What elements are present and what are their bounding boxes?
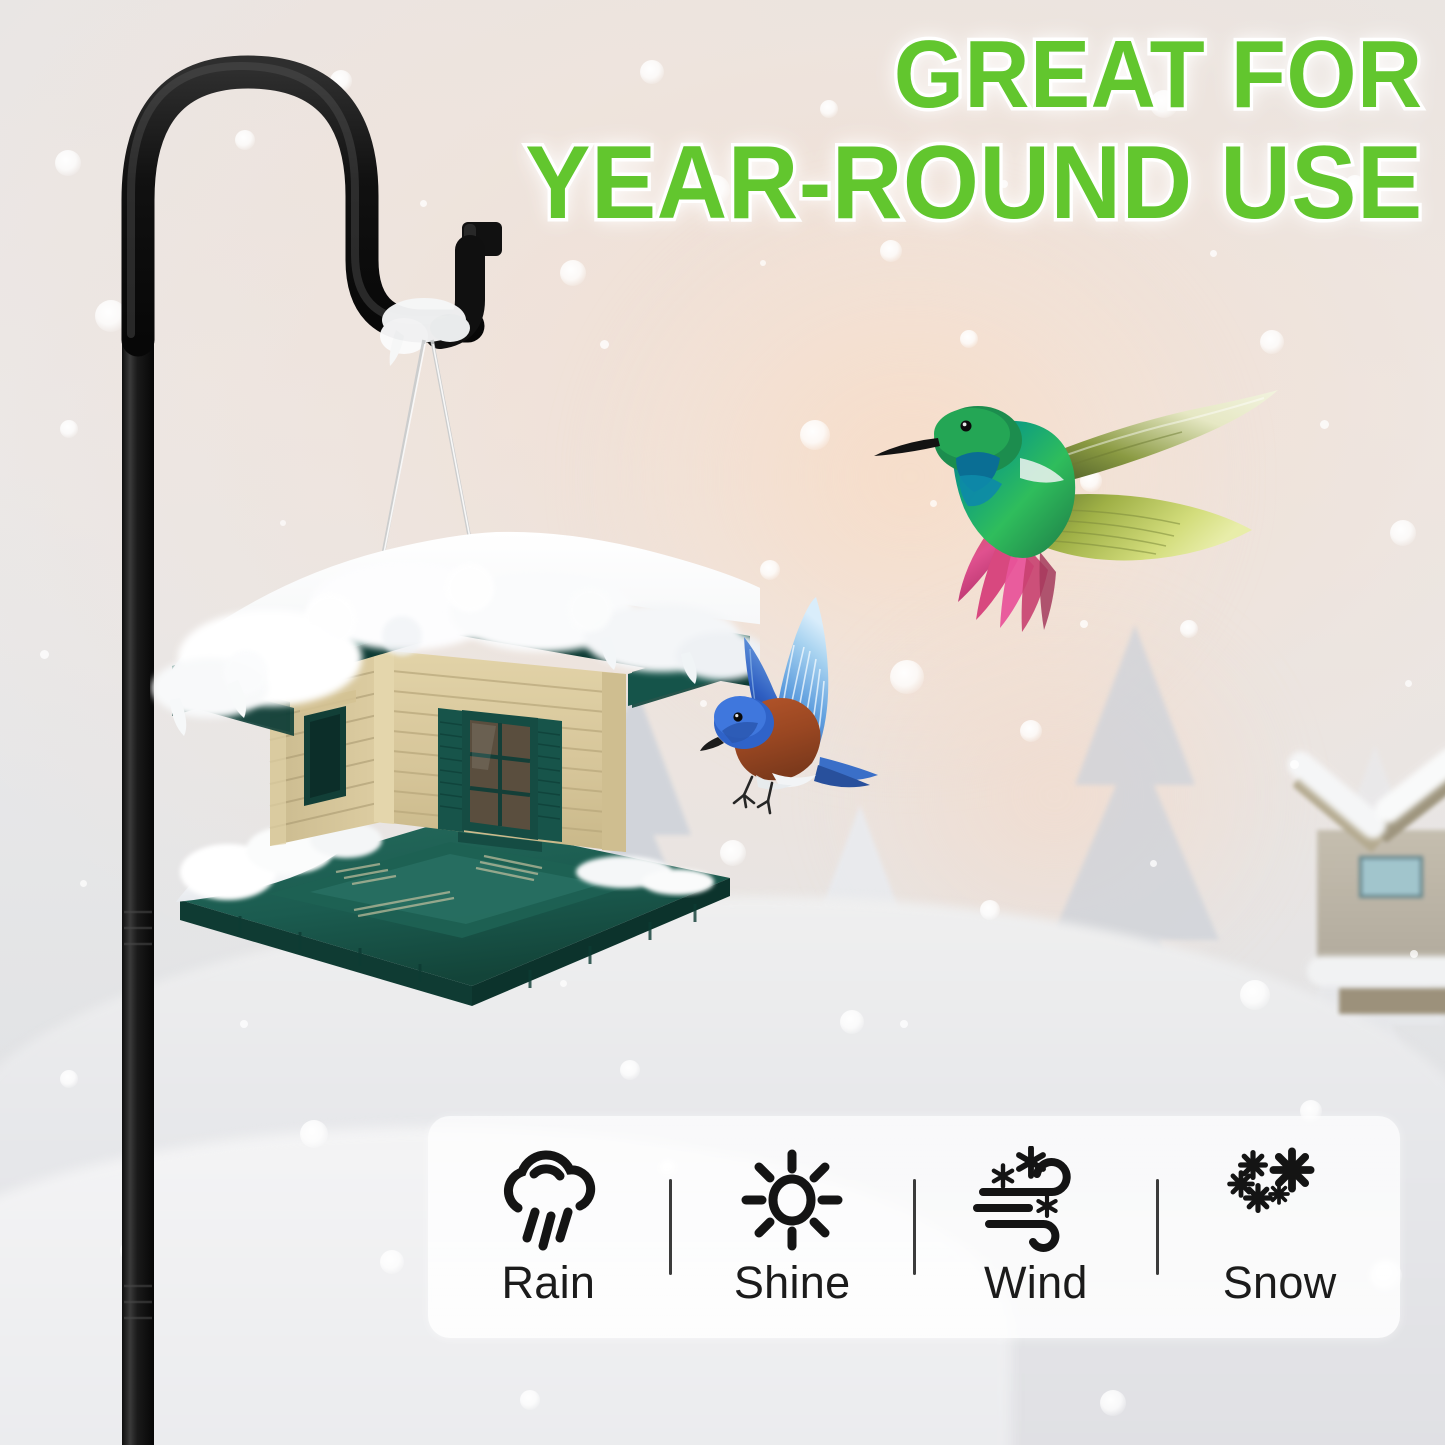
- weather-label-wind: Wind: [984, 1260, 1088, 1311]
- headline: GREAT FOR YEAR-ROUND USE: [526, 26, 1423, 236]
- weather-item-snow: Snow: [1159, 1116, 1400, 1338]
- house-bird-feeder: [150, 440, 760, 1020]
- headline-line-2: YEAR-ROUND USE: [526, 130, 1423, 236]
- weather-item-wind: Wind: [916, 1116, 1157, 1338]
- weather-item-rain: Rain: [428, 1116, 669, 1338]
- headline-line-1: GREAT FOR: [526, 26, 1423, 124]
- snowflakes-icon: [1220, 1144, 1340, 1256]
- snow-on-hook: [380, 298, 470, 366]
- weather-label-snow: Snow: [1223, 1260, 1337, 1311]
- weather-features-panel: Rain: [428, 1116, 1400, 1338]
- sun-icon: [732, 1144, 852, 1256]
- feeder-window: [438, 708, 562, 852]
- bluebird: [700, 595, 890, 825]
- product-marketing-image: GREAT FOR YEAR-ROUND USE Rain: [0, 0, 1445, 1445]
- feeder-seed-tray: [176, 820, 730, 1006]
- weather-label-shine: Shine: [734, 1260, 851, 1311]
- hummingbird: [860, 380, 1290, 700]
- weather-label-rain: Rain: [502, 1260, 596, 1311]
- wind-snow-icon: [973, 1144, 1098, 1256]
- weather-item-shine: Shine: [672, 1116, 913, 1338]
- rain-cloud-icon: [488, 1144, 608, 1256]
